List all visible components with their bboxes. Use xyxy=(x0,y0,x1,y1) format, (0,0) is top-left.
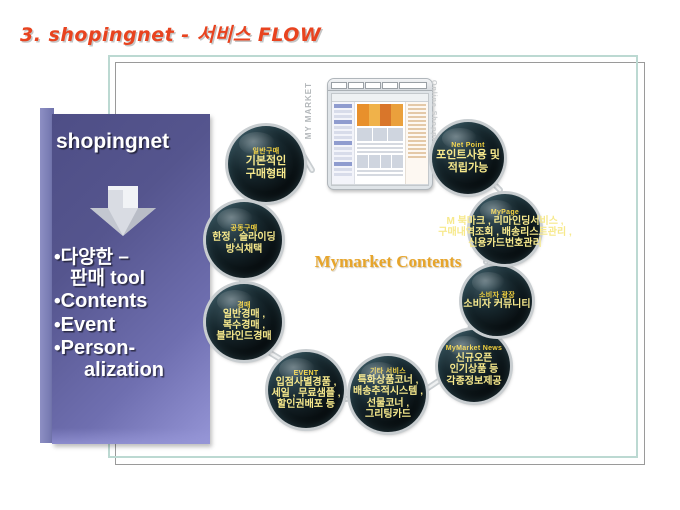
node-body: 입점사별경품 ,세일 , 무료샘플 ,할인권배포 등 xyxy=(271,377,340,411)
browser-chrome xyxy=(328,79,432,91)
flow-node-consumer-square[interactable]: 소비자 광장 소비자 커뮤니티 xyxy=(462,266,532,336)
site-right-column xyxy=(405,102,428,184)
down-arrow-3d-icon xyxy=(86,186,160,243)
node-body: 특화상품코너 ,배송추적시스템 , 선물코너 ,그리팅카드 xyxy=(353,375,423,420)
site-main-column xyxy=(355,102,405,184)
node-header: 경매 xyxy=(237,302,250,309)
bullet-text: 다양한 – xyxy=(61,247,129,268)
slide-canvas: 3. shopingnet - 서비스 FLOW xyxy=(0,0,680,510)
page-title: 3. shopingnet - 서비스 FLOW xyxy=(20,20,540,52)
node-body: 소비자 커뮤니티 xyxy=(463,299,530,310)
browser-label-left: MY MARKET xyxy=(304,82,313,139)
node-body: 신규오픈인기상품 등각종정보제공 xyxy=(446,353,501,387)
bullet-text: Person- xyxy=(61,337,135,359)
bullet-text: Contents xyxy=(61,290,148,312)
bullet-mark: • xyxy=(54,315,61,336)
flow-node-net-point[interactable]: Net Point 포인트사용 및적립가능 xyxy=(432,122,504,194)
site-navbar xyxy=(332,94,428,102)
node-header: 소비자 광장 xyxy=(479,292,515,299)
site-left-column xyxy=(332,102,355,184)
browser-screenshot xyxy=(327,78,433,190)
node-body: 포인트사용 및적립가능 xyxy=(436,149,500,174)
bullet-mark: • xyxy=(54,247,61,268)
box-bottom-shade xyxy=(52,428,210,444)
node-header: MyPage xyxy=(491,209,519,216)
bullet-mark: • xyxy=(54,338,61,359)
flow-node-mymarket-news[interactable]: MyMarket News 신규오픈인기상품 등각종정보제공 xyxy=(438,330,510,402)
browser-page xyxy=(331,93,429,186)
flow-node-event[interactable]: EVENT 입점사별경품 ,세일 , 무료샘플 ,할인권배포 등 xyxy=(268,352,344,428)
bullet-text-2: alization xyxy=(84,360,244,382)
sidebar-3d-box: shopingnet •다양한 – 판매 tool •Contents •Eve… xyxy=(40,108,210,443)
flow-node-etc-service[interactable]: 기타 서비스 특화상품코너 ,배송추적시스템 , 선물코너 ,그리팅카드 xyxy=(350,356,426,432)
site-footer xyxy=(332,184,428,186)
node-body: 한정 , 슬라이딩방식채택 xyxy=(212,232,276,254)
center-caption: Mymarket Contents xyxy=(288,252,488,272)
site-hero-banner xyxy=(357,104,403,126)
node-body: 기본적인구매형태 xyxy=(246,155,286,180)
flow-node-group-purchase[interactable]: 공동구매 한정 , 슬라이딩방식채택 xyxy=(206,202,282,278)
brand-label: shopingnet xyxy=(56,130,256,154)
node-body: M 북마크 , 리마인딩서비스 ,구매내역조회 , 배송리스트관리 ,신용카드번… xyxy=(438,216,572,250)
flow-node-general-purchase[interactable]: 일반구매 기본적인구매형태 xyxy=(228,126,304,202)
node-header: EVENT xyxy=(294,370,319,377)
bullet-text: Event xyxy=(61,314,115,336)
node-body: 일반경매 ,복수경매 ,블라인드경매 xyxy=(216,309,271,343)
flow-node-auction[interactable]: 경매 일반경매 ,복수경매 ,블라인드경매 xyxy=(206,284,282,360)
bullet-mark: • xyxy=(54,291,61,312)
bullet-text-2: 판매 tool xyxy=(70,269,244,290)
